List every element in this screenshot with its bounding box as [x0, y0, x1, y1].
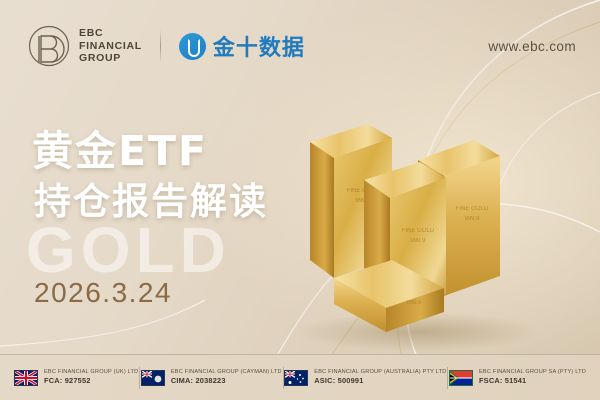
svg-text:999.9: 999.9	[410, 238, 426, 244]
poster-canvas: EBC FINANCIAL GROUP 金十数据 www.ebc.com	[0, 0, 600, 400]
gold-bars-illustration: FINE GOLD 999.9 FINE GOLD 999.9 FINE GOL…	[268, 82, 568, 352]
regulatory-footer: EBC FINANCIAL GROUP (UK) LTD FCA: 927552	[0, 354, 600, 400]
jinshi-wordmark: 金十数据	[213, 30, 305, 62]
regulatory-entity-south-africa: EBC FINANCIAL GROUP SA (PTY) LTD FSCA: 5…	[449, 369, 586, 387]
report-date: 2026.3.24	[34, 277, 172, 309]
jinshi-data-icon	[179, 33, 206, 60]
header-divider	[160, 29, 161, 63]
website-url: www.ebc.com	[488, 39, 576, 54]
regulatory-entity-uk: EBC FINANCIAL GROUP (UK) LTD FCA: 927552	[14, 369, 138, 387]
uk-flag-icon	[14, 370, 38, 386]
ebc-wordmark-line-3: GROUP	[79, 52, 142, 64]
regulatory-entity-cayman: EBC FINANCIAL GROUP (CAYMAN) LTD CIMA: 2…	[141, 369, 282, 387]
poster-header: EBC FINANCIAL GROUP 金十数据 www.ebc.com	[28, 20, 576, 72]
entity-name: EBC FINANCIAL GROUP (UK) LTD	[44, 369, 138, 377]
entity-license: FSCA: 51541	[479, 376, 586, 386]
svg-text:999.9: 999.9	[406, 300, 422, 306]
ebc-wordmark: EBC FINANCIAL GROUP	[79, 27, 142, 64]
ebc-logo: EBC FINANCIAL GROUP	[28, 25, 142, 67]
entity-name: EBC FINANCIAL GROUP (AUSTRALIA) PTY LTD	[314, 369, 446, 377]
page-title: 黄金ETF 持仓报告解读	[32, 124, 268, 227]
svg-text:FINE GOLD: FINE GOLD	[402, 228, 435, 234]
svg-text:FINE GOLD: FINE GOLD	[456, 206, 489, 212]
entity-license: CIMA: 2038223	[171, 376, 282, 386]
headline-line-2: 持仓报告解读	[34, 178, 268, 227]
headline-line-1: 黄金ETF	[32, 124, 268, 178]
svg-text:999.9: 999.9	[464, 216, 480, 222]
south-africa-flag-icon	[449, 370, 473, 386]
entity-license: ASIC: 500991	[314, 376, 446, 386]
jinshi-logo: 金十数据	[179, 30, 305, 62]
ebc-monogram-icon	[28, 25, 70, 67]
regulatory-entity-australia: EBC FINANCIAL GROUP (AUSTRALIA) PTY LTD …	[284, 369, 446, 387]
entity-license: FCA: 927552	[44, 376, 138, 386]
australia-flag-icon	[284, 370, 308, 386]
cayman-flag-icon	[141, 370, 165, 386]
ebc-wordmark-line-2: FINANCIAL	[79, 40, 142, 52]
entity-name: EBC FINANCIAL GROUP (CAYMAN) LTD	[171, 369, 282, 377]
ghost-word-gold: GOLD	[26, 218, 231, 282]
entity-name: EBC FINANCIAL GROUP SA (PTY) LTD	[479, 369, 586, 377]
ebc-wordmark-line-1: EBC	[79, 27, 142, 39]
